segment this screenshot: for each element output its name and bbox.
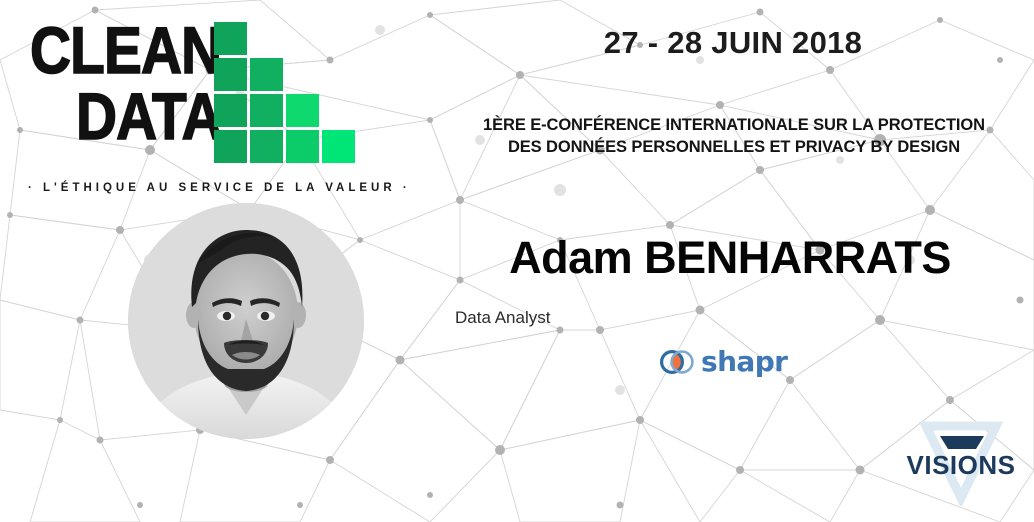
event-dates: 27 - 28 JUIN 2018 [448, 25, 1018, 61]
logo-square [214, 130, 247, 163]
shapr-wordmark: shapr [701, 345, 787, 378]
logo-square [214, 22, 247, 55]
logo-square [250, 130, 283, 163]
event-subtitle-line-2: DES DONNÉES PERSONNELLES ET PRIVACY BY D… [440, 136, 1028, 158]
visions-wordmark: VISIONS [907, 450, 1016, 480]
visions-logo-graphic: VISIONS [896, 418, 1026, 506]
logo-tagline: · L'ÉTHIQUE AU SERVICE DE LA VALEUR · [28, 182, 384, 194]
logo-square [322, 130, 355, 163]
event-subtitle: 1ÈRE E-CONFÉRENCE INTERNATIONALE SUR LA … [440, 114, 1028, 159]
speaker-photo [128, 203, 364, 439]
conference-speaker-card: CLEAN DATA · L'ÉTHIQUE AU SERVICE DE LA … [0, 0, 1034, 522]
shapr-circles-icon [660, 348, 694, 376]
logo-square [250, 94, 283, 127]
logo-word-data: DATA [76, 88, 222, 145]
shapr-logo: shapr [660, 345, 787, 378]
speaker-role: Data Analyst [455, 308, 550, 328]
visions-logo: VISIONS [896, 418, 1026, 506]
logo-bar-squares [214, 22, 384, 162]
clean-data-logo: CLEAN DATA · L'ÉTHIQUE AU SERVICE DE LA … [24, 16, 384, 188]
speaker-name: Adam BENHARRATS [440, 232, 1020, 284]
logo-square [214, 94, 247, 127]
logo-square [286, 130, 319, 163]
logo-square [250, 58, 283, 91]
speaker-portrait-illustration [128, 203, 364, 439]
logo-word-clean: CLEAN [30, 22, 221, 79]
logo-square [214, 58, 247, 91]
logo-square [286, 94, 319, 127]
event-subtitle-line-1: 1ÈRE E-CONFÉRENCE INTERNATIONALE SUR LA … [483, 116, 985, 134]
